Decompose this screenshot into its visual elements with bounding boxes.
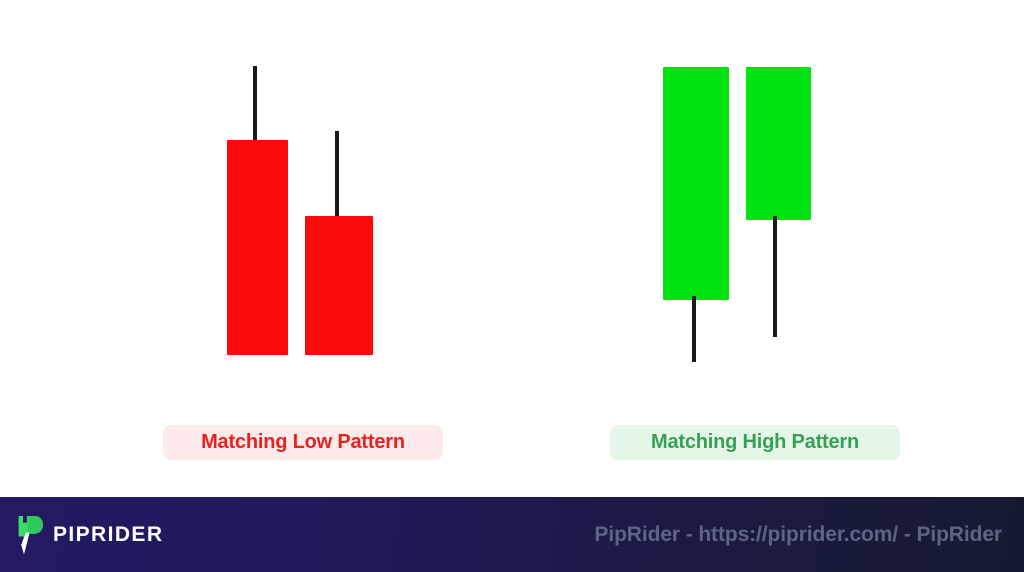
chart-area: Matching Low Pattern Matching High Patte… (0, 0, 1024, 497)
bullish-candle-1-body (663, 67, 729, 300)
footer-url-text: PipRider - https://piprider.com/ - PipRi… (594, 497, 1002, 572)
bullish-candle-2-lower-wick (773, 216, 777, 337)
bearish-candle-2-body (305, 216, 373, 355)
matching-high-pattern-label: Matching High Pattern (610, 425, 900, 460)
piprider-bolt-logo-icon (14, 514, 44, 556)
footer-bar: PIPRIDER PipRider - https://piprider.com… (0, 497, 1024, 572)
matching-low-pattern-label: Matching Low Pattern (163, 425, 443, 460)
bearish-candle-1-upper-wick (253, 66, 257, 144)
bullish-candle-1-lower-wick (692, 296, 696, 362)
bullish-candle-2-body (746, 67, 811, 220)
candlestick-pattern-infographic: Matching Low Pattern Matching High Patte… (0, 0, 1024, 572)
brand-lockup: PIPRIDER (14, 497, 163, 572)
brand-name: PIPRIDER (53, 523, 163, 547)
bearish-candle-1-body (227, 140, 288, 355)
bearish-candle-2-upper-wick (335, 131, 339, 220)
